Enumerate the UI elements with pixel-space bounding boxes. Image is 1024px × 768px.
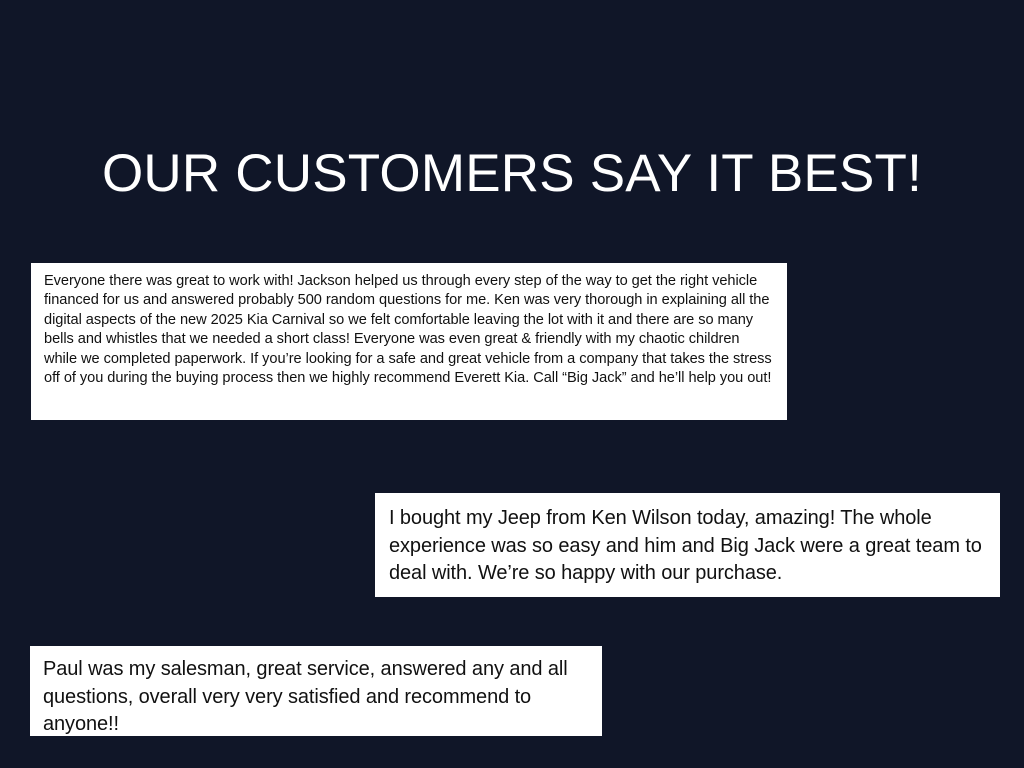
testimonial-card-2: I bought my Jeep from Ken Wilson today, …: [375, 493, 1000, 597]
testimonial-text-3: Paul was my salesman, great service, ans…: [43, 656, 588, 739]
testimonial-card-3: Paul was my salesman, great service, ans…: [30, 646, 602, 736]
page-title: OUR CUSTOMERS SAY IT BEST!: [0, 144, 1024, 204]
testimonial-text-2: I bought my Jeep from Ken Wilson today, …: [389, 505, 984, 588]
testimonial-card-1: Everyone there was great to work with! J…: [31, 263, 787, 420]
presentation-slide: OUR CUSTOMERS SAY IT BEST! Everyone ther…: [0, 0, 1024, 768]
testimonial-text-1: Everyone there was great to work with! J…: [44, 272, 773, 388]
